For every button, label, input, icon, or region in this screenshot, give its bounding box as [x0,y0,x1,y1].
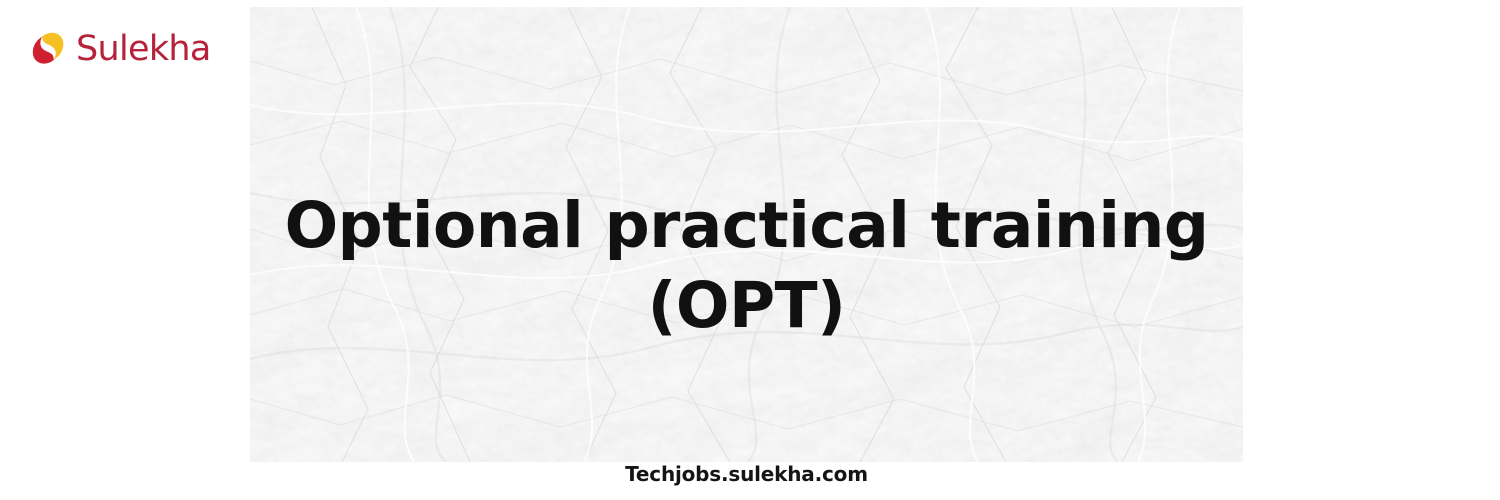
sulekha-swirl-icon [27,27,69,69]
sulekha-wordmark: Sulekha [76,32,211,67]
banner-canvas: Sulekha [0,0,1500,500]
footer-site-url: Techjobs.sulekha.com [250,461,1243,487]
sulekha-logo[interactable]: Sulekha [27,26,211,70]
page-title: Optional practical training (OPT) [250,186,1243,346]
